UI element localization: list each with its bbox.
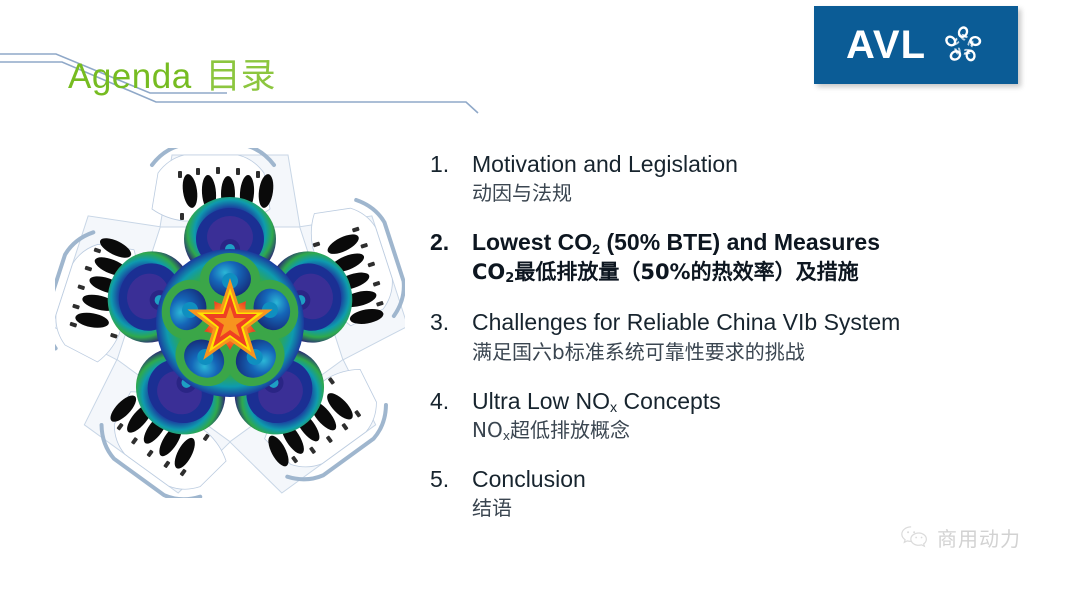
agenda-zh-pre: 满足国六b标准系统可靠性要求的挑战: [472, 340, 805, 364]
agenda-item-number: 4.: [430, 387, 472, 416]
avl-logo: AVL: [814, 6, 1018, 84]
watermark-text: 商用动力: [937, 523, 1021, 552]
agenda-en-pre: Challenges for Reliable China VIb System: [472, 309, 900, 335]
agenda-item-number: 1.: [430, 150, 472, 179]
agenda-item-chinese: 满足国六b标准系统可靠性要求的挑战: [472, 339, 1030, 365]
agenda-zh-sub: x: [503, 428, 510, 443]
agenda-en-pre: Conclusion: [472, 466, 586, 492]
simulation-figure: [55, 148, 405, 498]
agenda-item-english: Challenges for Reliable China VIb System: [472, 308, 1030, 337]
slide-canvas: Agenda目录 AVL: [0, 0, 1080, 591]
avl-pinwheel-icon: [940, 22, 986, 68]
agenda-zh-pre: CO: [472, 260, 505, 284]
watermark: 商用动力: [900, 523, 1021, 552]
agenda-item-texts: Motivation and Legislation 动因与法规: [472, 150, 1030, 206]
agenda-item-1[interactable]: 1. Motivation and Legislation 动因与法规: [430, 150, 1030, 206]
agenda-item-chinese: 结语: [472, 495, 1030, 521]
wechat-icon: [900, 525, 930, 551]
agenda-item-chinese: 动因与法规: [472, 180, 1030, 206]
agenda-item-number: 3.: [430, 308, 472, 337]
agenda-en-pre: Motivation and Legislation: [472, 151, 738, 177]
avl-wordmark: AVL: [846, 25, 926, 65]
radial-engine-cfd-graphic: [55, 148, 405, 498]
agenda-zh-pre: NO: [472, 418, 503, 442]
agenda-en-sub: 2: [592, 242, 600, 258]
agenda-item-texts: Lowest CO2 (50% BTE) and Measures CO2最低排…: [472, 228, 1030, 286]
agenda-item-number: 2.: [430, 228, 472, 257]
agenda-zh-post: 超低排放概念: [510, 418, 630, 442]
agenda-item-texts: Challenges for Reliable China VIb System…: [472, 308, 1030, 364]
page-title-english: Agenda: [68, 57, 192, 96]
agenda-item-texts: Conclusion 结语: [472, 465, 1030, 521]
agenda-en-post: (50% BTE) and Measures: [600, 229, 880, 255]
agenda-zh-pre: 结语: [472, 496, 512, 520]
agenda-en-pre: Ultra Low NO: [472, 388, 610, 414]
agenda-item-english: Conclusion: [472, 465, 1030, 494]
page-title-chinese: 目录: [206, 57, 276, 97]
agenda-item-english: Lowest CO2 (50% BTE) and Measures: [472, 228, 1030, 257]
agenda-zh-sub: 2: [505, 271, 514, 286]
agenda-en-sub: x: [610, 400, 617, 416]
agenda-item-english: Ultra Low NOx Concepts: [472, 387, 1030, 416]
page-title: Agenda目录: [68, 48, 276, 99]
agenda-item-chinese: NOx超低排放概念: [472, 417, 1030, 443]
agenda-item-5[interactable]: 5. Conclusion 结语: [430, 465, 1030, 521]
agenda-en-post: Concepts: [617, 388, 721, 414]
agenda-item-2[interactable]: 2. Lowest CO2 (50% BTE) and Measures CO2…: [430, 228, 1030, 286]
agenda-item-english: Motivation and Legislation: [472, 150, 1030, 179]
agenda-zh-pre: 动因与法规: [472, 181, 572, 205]
agenda-item-4[interactable]: 4. Ultra Low NOx Concepts NOx超低排放概念: [430, 387, 1030, 443]
agenda-item-chinese: CO2最低排放量（50%的热效率）及措施: [472, 259, 1030, 286]
agenda-item-3[interactable]: 3. Challenges for Reliable China VIb Sys…: [430, 308, 1030, 364]
agenda-list: 1. Motivation and Legislation 动因与法规 2. L…: [430, 150, 1030, 521]
agenda-item-number: 5.: [430, 465, 472, 494]
agenda-zh-post: 最低排放量（50%的热效率）及措施: [514, 260, 858, 284]
agenda-en-pre: Lowest CO: [472, 229, 592, 255]
agenda-item-texts: Ultra Low NOx Concepts NOx超低排放概念: [472, 387, 1030, 443]
